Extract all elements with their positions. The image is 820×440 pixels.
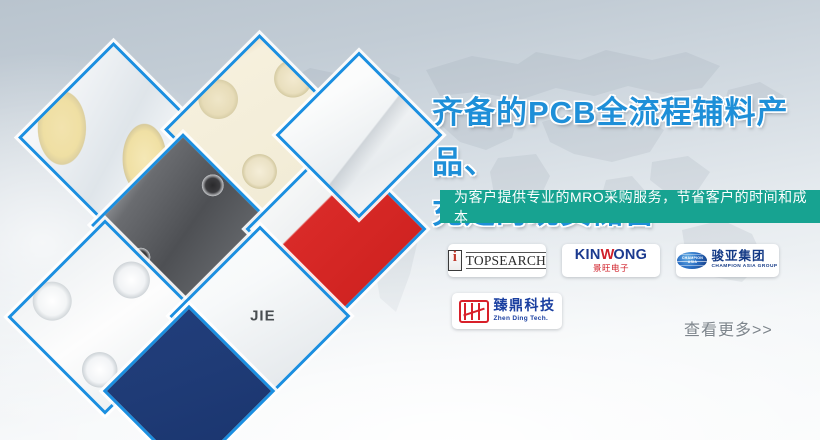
kinwong-chinese-name: 景旺电子 <box>593 263 629 274</box>
subtitle-bar: 为客户提供专业的MRO采购服务，节省客户的时间和成本 <box>440 190 820 223</box>
kinwong-wordmark: KINWONG <box>575 248 648 263</box>
topsearch-mark-icon <box>448 250 462 271</box>
kinwong-word-part1: KIN <box>575 247 601 263</box>
partner-logo-row-2: 臻鼎科技 Zhen Ding Tech. <box>452 293 562 329</box>
kinwong-word-accent: W <box>601 247 614 263</box>
subtitle-text: 为客户提供专业的MRO采购服务，节省客户的时间和成本 <box>454 187 820 227</box>
zhen-ding-text: 臻鼎科技 Zhen Ding Tech. <box>494 299 556 323</box>
view-more-link[interactable]: 查看更多>> <box>684 316 773 340</box>
zhen-ding-chinese-name: 臻鼎科技 <box>494 299 556 314</box>
globe-icon <box>677 252 707 269</box>
jie-label: JIE <box>251 307 277 324</box>
zhen-ding-mark-icon <box>459 300 489 323</box>
promo-banner: JIE 齐备的PCB全流程辅料产品、 充足的现货储备 为客户提供专业的MRO采购… <box>0 0 820 440</box>
champion-asia-chinese-name: 骏亚集团 <box>711 250 765 263</box>
kinwong-word-part3: ONG <box>613 247 647 263</box>
zhen-ding-english-name: Zhen Ding Tech. <box>494 314 549 323</box>
logo-topsearch[interactable]: TOPSEARCH <box>448 244 546 277</box>
logo-champion-asia[interactable]: 骏亚集团 CHAMPION ASIA GROUP <box>676 244 779 277</box>
champion-asia-english-name: CHAMPION ASIA GROUP <box>711 263 777 271</box>
logo-kinwong[interactable]: KINWONG 景旺电子 <box>562 244 660 277</box>
product-photo-collage: JIE <box>0 0 430 440</box>
logo-zhen-ding-tech[interactable]: 臻鼎科技 Zhen Ding Tech. <box>452 293 562 329</box>
partner-logo-row-1: TOPSEARCH KINWONG 景旺电子 骏亚集团 CHAMPION ASI… <box>448 244 779 277</box>
topsearch-wordmark: TOPSEARCH <box>466 252 546 269</box>
champion-asia-text: 骏亚集团 CHAMPION ASIA GROUP <box>711 250 777 271</box>
